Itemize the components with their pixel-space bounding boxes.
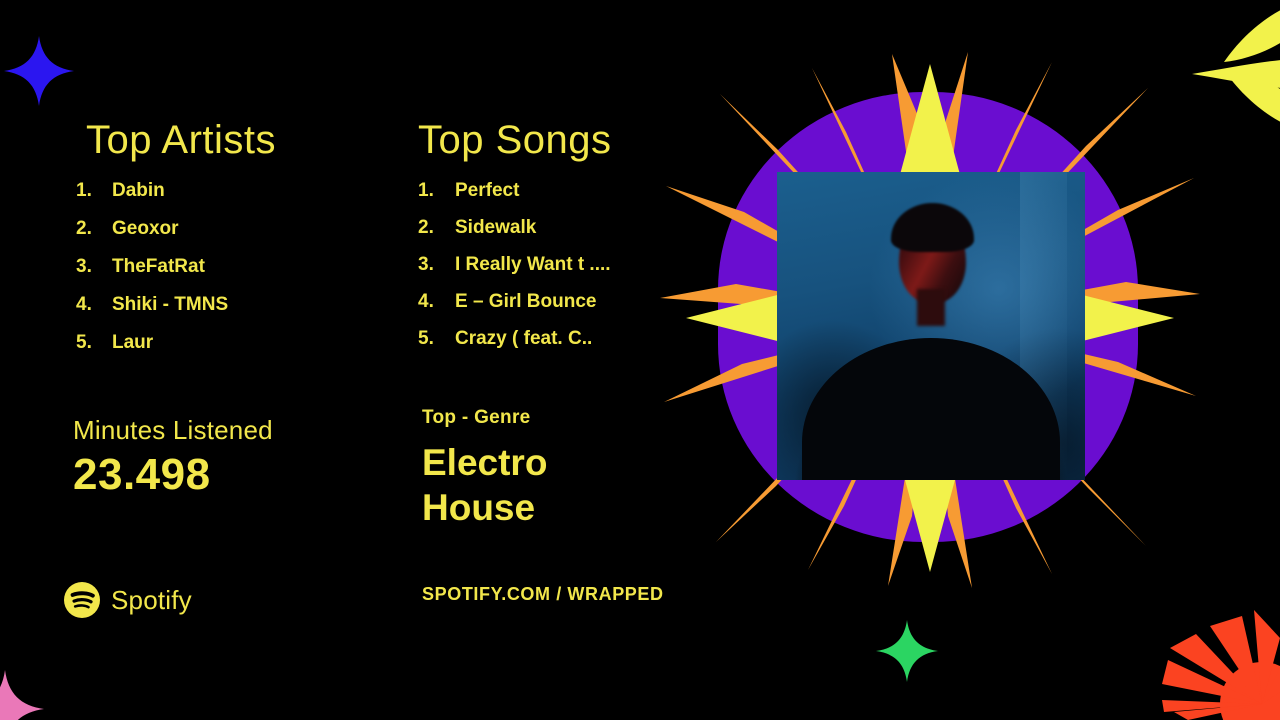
spiky-sun-burst-icon — [1162, 608, 1280, 720]
top-artists-section: Top Artists 1. Dabin 2. Geoxor 3. TheFat… — [76, 118, 396, 370]
artist-name: Geoxor — [112, 218, 179, 240]
album-artwork-image — [777, 172, 1085, 480]
list-item[interactable]: 2. Sidewalk — [418, 217, 678, 239]
minutes-listened-section: Minutes Listened 23.498 — [73, 415, 273, 500]
rank-number: 5. — [418, 328, 455, 350]
rank-number: 2. — [418, 217, 455, 239]
list-item[interactable]: 3. I Really Want t .... — [418, 254, 678, 276]
list-item[interactable]: 5. Laur — [76, 332, 396, 354]
top-genre-value: Electro House — [422, 440, 612, 530]
list-item[interactable]: 1. Dabin — [76, 180, 396, 202]
artist-name: Dabin — [112, 180, 165, 202]
song-name: Perfect — [455, 180, 519, 202]
footer-url[interactable]: SPOTIFY.COM / WRAPPED — [422, 584, 664, 605]
song-name: Sidewalk — [455, 217, 536, 239]
rank-number: 3. — [418, 254, 455, 276]
minutes-listened-label: Minutes Listened — [73, 415, 273, 446]
top-artists-heading: Top Artists — [86, 118, 396, 163]
four-point-sparkle-icon — [876, 620, 938, 682]
song-name: E – Girl Bounce — [455, 291, 596, 313]
four-point-sparkle-icon — [0, 670, 44, 720]
song-name: Crazy ( feat. C.. — [455, 328, 592, 350]
four-point-sparkle-icon — [4, 26, 74, 116]
list-item[interactable]: 1. Perfect — [418, 180, 678, 202]
top-songs-heading: Top Songs — [418, 118, 678, 163]
top-artists-list: 1. Dabin 2. Geoxor 3. TheFatRat 4. Shiki… — [76, 180, 396, 354]
rank-number: 5. — [76, 332, 112, 354]
top-songs-list: 1. Perfect 2. Sidewalk 3. I Really Want … — [418, 180, 678, 350]
list-item[interactable]: 3. TheFatRat — [76, 256, 396, 278]
top-genre-label: Top - Genre — [422, 407, 612, 429]
song-name: I Really Want t .... — [455, 254, 611, 276]
brand-name: Spotify — [111, 585, 192, 616]
rank-number: 1. — [418, 180, 455, 202]
rank-number: 4. — [76, 294, 112, 316]
spotify-logo-icon — [64, 582, 100, 618]
spotify-brand-lockup: Spotify — [64, 582, 192, 618]
list-item[interactable]: 4. E – Girl Bounce — [418, 291, 678, 313]
artist-name: Laur — [112, 332, 153, 354]
list-item[interactable]: 5. Crazy ( feat. C.. — [418, 328, 678, 350]
minutes-listened-value: 23.498 — [73, 450, 273, 500]
rank-number: 3. — [76, 256, 112, 278]
artist-name: Shiki - TMNS — [112, 294, 228, 316]
list-item[interactable]: 2. Geoxor — [76, 218, 396, 240]
rank-number: 1. — [76, 180, 112, 202]
list-item[interactable]: 4. Shiki - TMNS — [76, 294, 396, 316]
wrapped-story-canvas: Top Artists 1. Dabin 2. Geoxor 3. TheFat… — [0, 0, 1280, 720]
top-songs-section: Top Songs 1. Perfect 2. Sidewalk 3. I Re… — [418, 118, 678, 365]
top-genre-section: Top - Genre Electro House — [422, 407, 612, 530]
artist-name: TheFatRat — [112, 256, 205, 278]
rank-number: 2. — [76, 218, 112, 240]
rank-number: 4. — [418, 291, 455, 313]
